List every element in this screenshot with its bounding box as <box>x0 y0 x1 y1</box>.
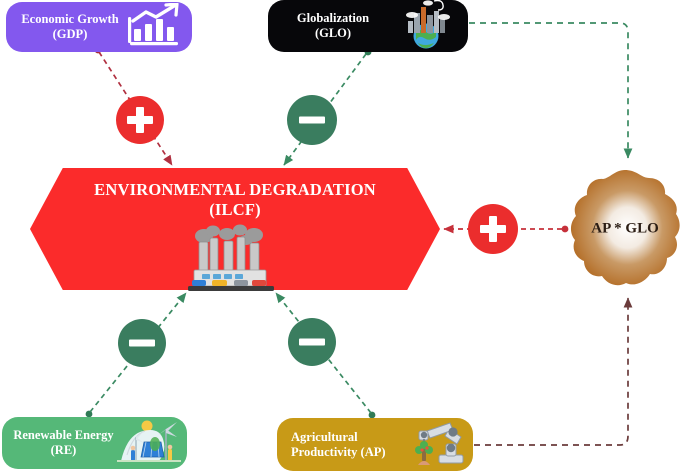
solar-wind-energy-icon <box>117 417 181 470</box>
node-ap-times-glo-label: AP * GLO <box>569 221 681 238</box>
diagram-canvas: Economic Growth (GDP) Globalization <box>0 0 685 472</box>
badge-minus-re-to-core[interactable] <box>118 319 166 367</box>
node-agricultural-productivity-label: Agricultural Productivity (AP) <box>285 430 405 460</box>
badge-plus-gdp-to-core[interactable] <box>116 96 164 144</box>
edge-ap-to-apglo <box>474 298 628 445</box>
node-globalization-label: Globalization (GLO) <box>276 11 390 41</box>
badge-plus-apglo-to-core[interactable] <box>468 204 518 254</box>
globe-city-icon <box>390 0 462 54</box>
node-ap-times-glo[interactable]: AP * GLO <box>569 167 681 291</box>
node-economic-growth[interactable]: Economic Growth (GDP) <box>6 2 192 52</box>
node-globalization[interactable]: Globalization (GLO) <box>268 0 468 52</box>
badge-minus-glo-to-core[interactable] <box>287 95 337 145</box>
node-economic-growth-label: Economic Growth (GDP) <box>14 12 126 42</box>
factory-pollution-icon <box>182 222 278 299</box>
bar-chart-growth-icon <box>126 3 186 52</box>
node-environmental-degradation-label: ENVIRONMENTAL DEGRADATION (ILCF) <box>30 180 440 221</box>
node-agricultural-productivity[interactable]: Agricultural Productivity (AP) <box>277 418 473 471</box>
node-renewable-energy[interactable]: Renewable Energy (RE) <box>2 417 187 469</box>
badge-minus-ap-to-core[interactable] <box>288 318 336 366</box>
node-renewable-energy-label: Renewable Energy (RE) <box>10 428 117 458</box>
robot-arm-crop-icon <box>405 417 467 472</box>
edge-glo-to-apglo <box>469 23 628 158</box>
